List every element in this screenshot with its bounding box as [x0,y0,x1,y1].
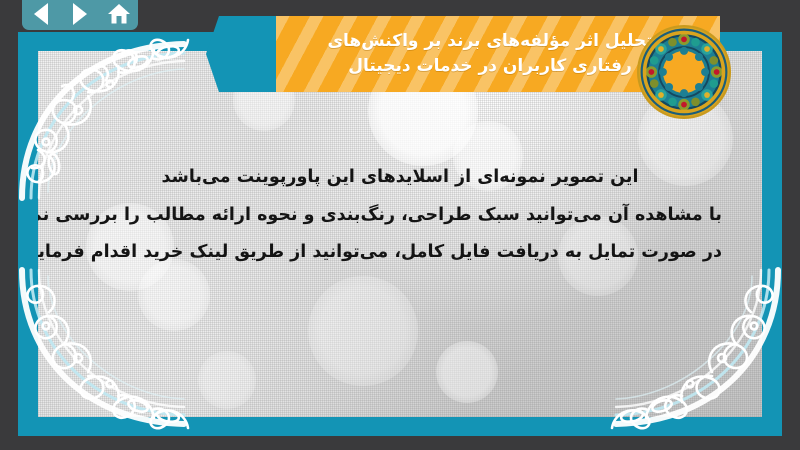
triangle-right-icon [73,3,87,25]
home-icon [107,3,131,25]
back-button[interactable] [27,2,55,26]
body-line-3: در صورت تمایل به دریافت فایل کامل، می‌تو… [78,234,722,272]
navigation-toolbar [22,0,138,30]
body-line-1: این تصویر نمونه‌ای از اسلایدهای این پاور… [78,159,722,197]
slide-title-line-1: تحلیل اثر مؤلفه‌های برند بر واکنش‌های [327,29,652,55]
persian-medallion-ornament [636,24,732,120]
slide-viewer: این تصویر نمونه‌ای از اسلایدهای این پاور… [0,0,800,450]
bokeh-circle [308,276,418,386]
title-banner: تحلیل اثر مؤلفه‌های برند بر واکنش‌های رف… [206,16,720,92]
home-button[interactable] [105,2,133,26]
slide-body-text: این تصویر نمونه‌ای از اسلایدهای این پاور… [78,159,722,272]
bokeh-circle [198,351,256,409]
banner-arrow-tail [206,16,278,92]
bokeh-circle [436,341,498,403]
triangle-left-icon [34,3,48,25]
slide-title-line-2: رفتاری کاربران در خدمات دیجیتال [348,54,632,80]
forward-button[interactable] [66,2,94,26]
body-line-2: با مشاهده آن می‌توانید سبک طراحی، رنگ‌بن… [78,197,722,235]
